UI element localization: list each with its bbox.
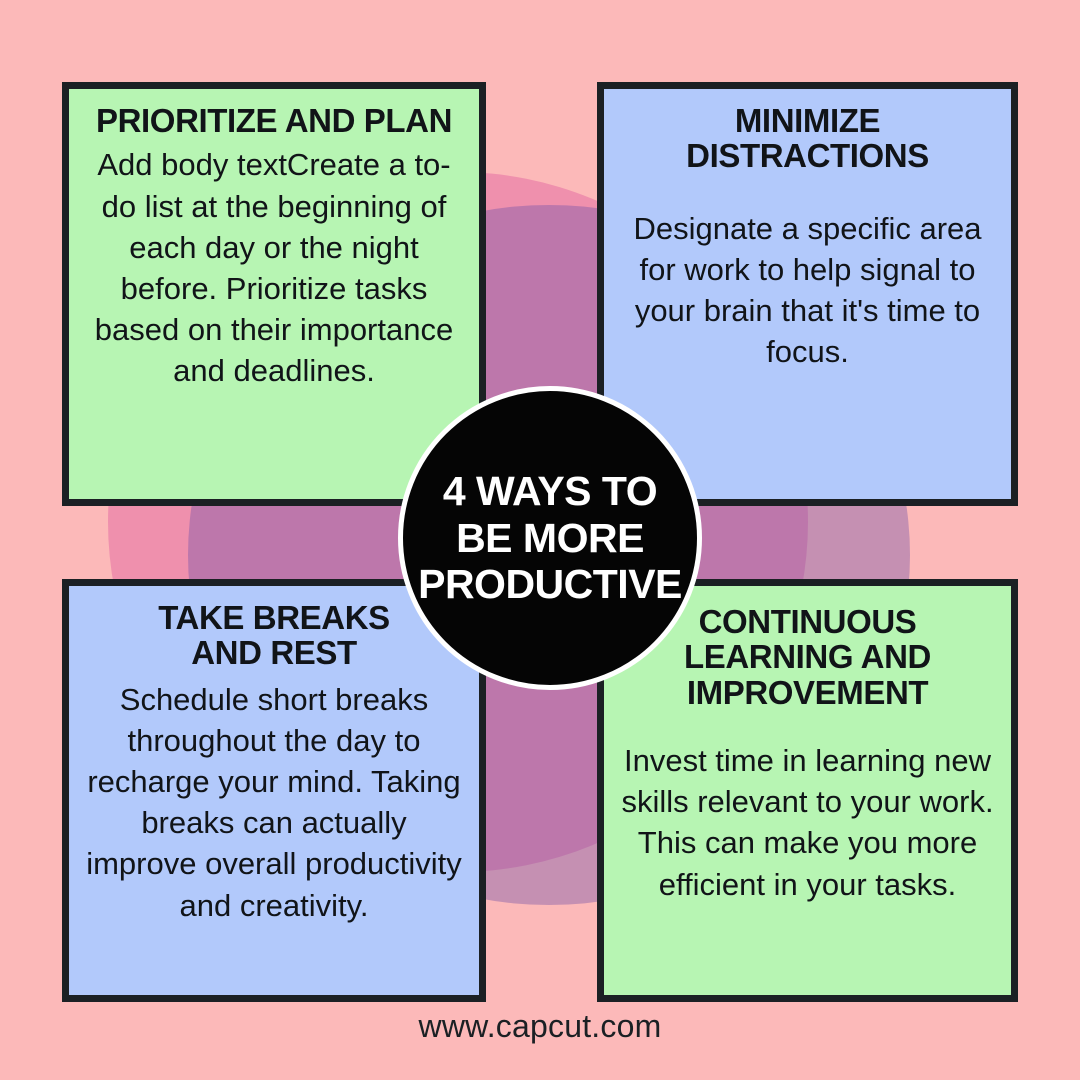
card-prioritize-and-plan: PRIORITIZE AND PLAN Add body textCreate … [62,82,486,506]
card-body: Add body textCreate a to-do list at the … [85,144,463,391]
badge-title: 4 WAYS TO BE MORE PRODUCTIVE [403,468,697,608]
card-body: Designate a specific area for work to he… [620,208,995,373]
card-body: Invest time in learning new skills relev… [620,740,995,905]
card-title: TAKE BREAKS AND REST [85,600,463,671]
center-badge: 4 WAYS TO BE MORE PRODUCTIVE [398,386,702,690]
card-body: Schedule short breaks throughout the day… [85,679,463,926]
footer-url: www.capcut.com [0,1008,1080,1045]
card-take-breaks-and-rest: TAKE BREAKS AND REST Schedule short brea… [62,579,486,1002]
card-title: PRIORITIZE AND PLAN [85,103,463,138]
card-title: MINIMIZE DISTRACTIONS [620,103,995,174]
infographic-poster: PRIORITIZE AND PLAN Add body textCreate … [0,0,1080,1080]
